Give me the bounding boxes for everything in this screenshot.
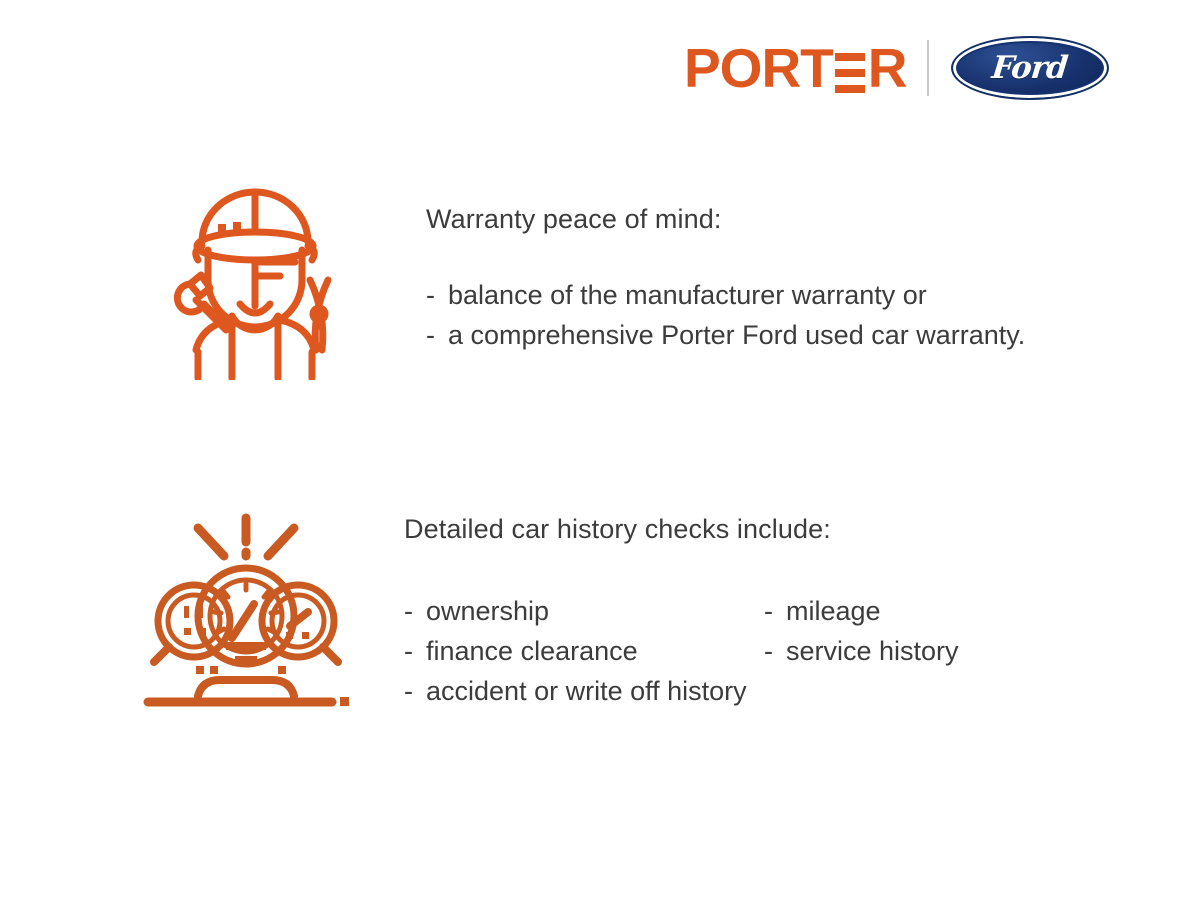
history-heading: Detailed car history checks include:: [404, 514, 959, 545]
list-item: - service history: [764, 631, 959, 671]
dashboard-gauges-icon: [136, 508, 356, 708]
dashboard-gauges-icon-svg: [136, 508, 356, 708]
bullet-dash: -: [404, 631, 426, 671]
list-item: - finance clearance: [404, 631, 764, 671]
list-item: - accident or write off history: [404, 671, 959, 711]
warranty-text-column: Warranty peace of mind: - balance of the…: [368, 180, 1025, 355]
bullet-text: finance clearance: [426, 631, 638, 671]
bullet-dash: -: [426, 315, 448, 355]
porter-wordmark-primary: PORT: [684, 42, 833, 94]
history-text-column: Detailed car history checks include: - o…: [374, 508, 959, 711]
warranty-bullet-list: - balance of the manufacturer warranty o…: [426, 275, 1025, 355]
porter-wordmark-tail: R: [868, 42, 907, 94]
bullet-dash: -: [764, 591, 786, 631]
bullet-text: service history: [786, 631, 959, 671]
ford-logo-text: Ford: [990, 50, 1069, 86]
bullet-text: balance of the manufacturer warranty or: [448, 275, 927, 315]
mechanic-icon-svg: [160, 180, 350, 380]
ford-logo: Ford: [951, 36, 1109, 100]
list-item: - ownership: [404, 591, 764, 631]
brand-divider: [927, 40, 929, 96]
bullet-text: mileage: [786, 591, 881, 631]
porter-stylised-e-icon: [835, 53, 865, 93]
bullet-dash: -: [764, 631, 786, 671]
brand-lockup: PORT R Ford: [684, 34, 1109, 102]
bullet-text: accident or write off history: [426, 671, 747, 711]
bullet-dash: -: [426, 275, 448, 315]
list-item: - a comprehensive Porter Ford used car w…: [426, 315, 1025, 355]
mechanic-icon: [160, 180, 350, 380]
warranty-heading: Warranty peace of mind:: [426, 204, 1025, 235]
history-bullet-list: - ownership - mileage - finance clearanc…: [404, 591, 959, 711]
bullet-text: a comprehensive Porter Ford used car war…: [448, 315, 1025, 355]
history-checks-section: Detailed car history checks include: - o…: [136, 508, 959, 711]
list-item: - mileage: [764, 591, 959, 631]
list-item: - balance of the manufacturer warranty o…: [426, 275, 1025, 315]
bullet-dash: -: [404, 671, 426, 711]
bullet-dash: -: [404, 591, 426, 631]
warranty-section: Warranty peace of mind: - balance of the…: [160, 180, 1025, 380]
porter-wordmark: PORT R: [684, 42, 907, 94]
bullet-text: ownership: [426, 591, 549, 631]
